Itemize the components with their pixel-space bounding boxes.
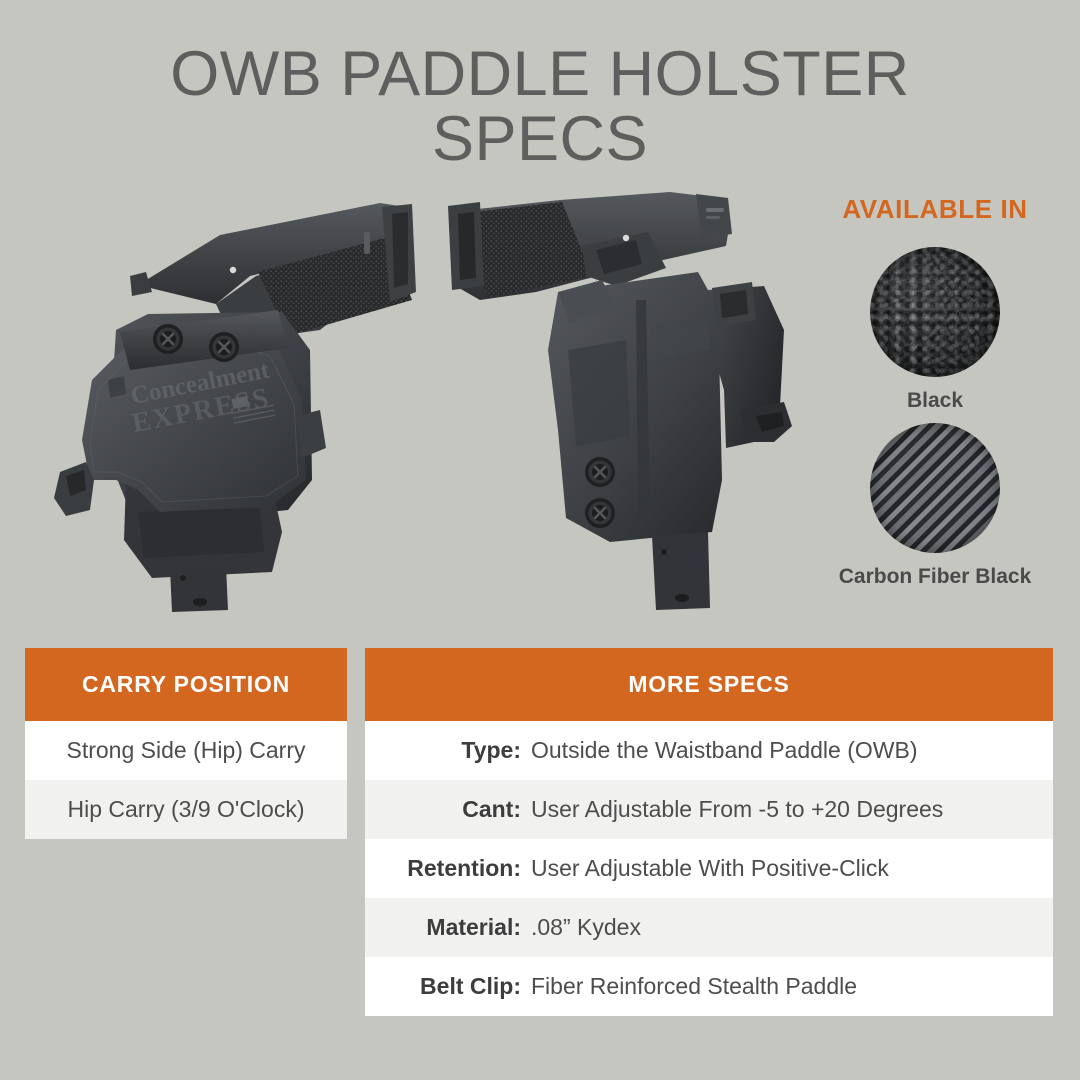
spec-value: User Adjustable With Positive-Click — [531, 855, 1053, 882]
spec-label: Retention: — [365, 855, 531, 882]
carry-position-row: Hip Carry (3/9 O'Clock) — [25, 780, 347, 839]
spec-label: Belt Clip: — [365, 973, 531, 1000]
carry-position-row: Strong Side (Hip) Carry — [25, 721, 347, 780]
spec-label: Material: — [365, 914, 531, 941]
more-specs-header: MORE SPECS — [365, 648, 1053, 721]
spec-row-retention: Retention: User Adjustable With Positive… — [365, 839, 1053, 898]
spec-row-type: Type: Outside the Waistband Paddle (OWB) — [365, 721, 1053, 780]
spec-tables-area: CARRY POSITION Strong Side (Hip) Carry H… — [0, 0, 1080, 1080]
spec-label: Cant: — [365, 796, 531, 823]
spec-row-belt-clip: Belt Clip: Fiber Reinforced Stealth Padd… — [365, 957, 1053, 1016]
spec-value: .08” Kydex — [531, 914, 1053, 941]
spec-row-cant: Cant: User Adjustable From -5 to +20 Deg… — [365, 780, 1053, 839]
spec-label: Type: — [365, 737, 531, 764]
spec-value: Fiber Reinforced Stealth Paddle — [531, 973, 1053, 1000]
more-specs-table: MORE SPECS Type: Outside the Waistband P… — [365, 648, 1053, 1016]
carry-position-header: CARRY POSITION — [25, 648, 347, 721]
spec-row-material: Material: .08” Kydex — [365, 898, 1053, 957]
spec-value: Outside the Waistband Paddle (OWB) — [531, 737, 1053, 764]
carry-position-table: CARRY POSITION Strong Side (Hip) Carry H… — [25, 648, 347, 839]
spec-value: User Adjustable From -5 to +20 Degrees — [531, 796, 1053, 823]
